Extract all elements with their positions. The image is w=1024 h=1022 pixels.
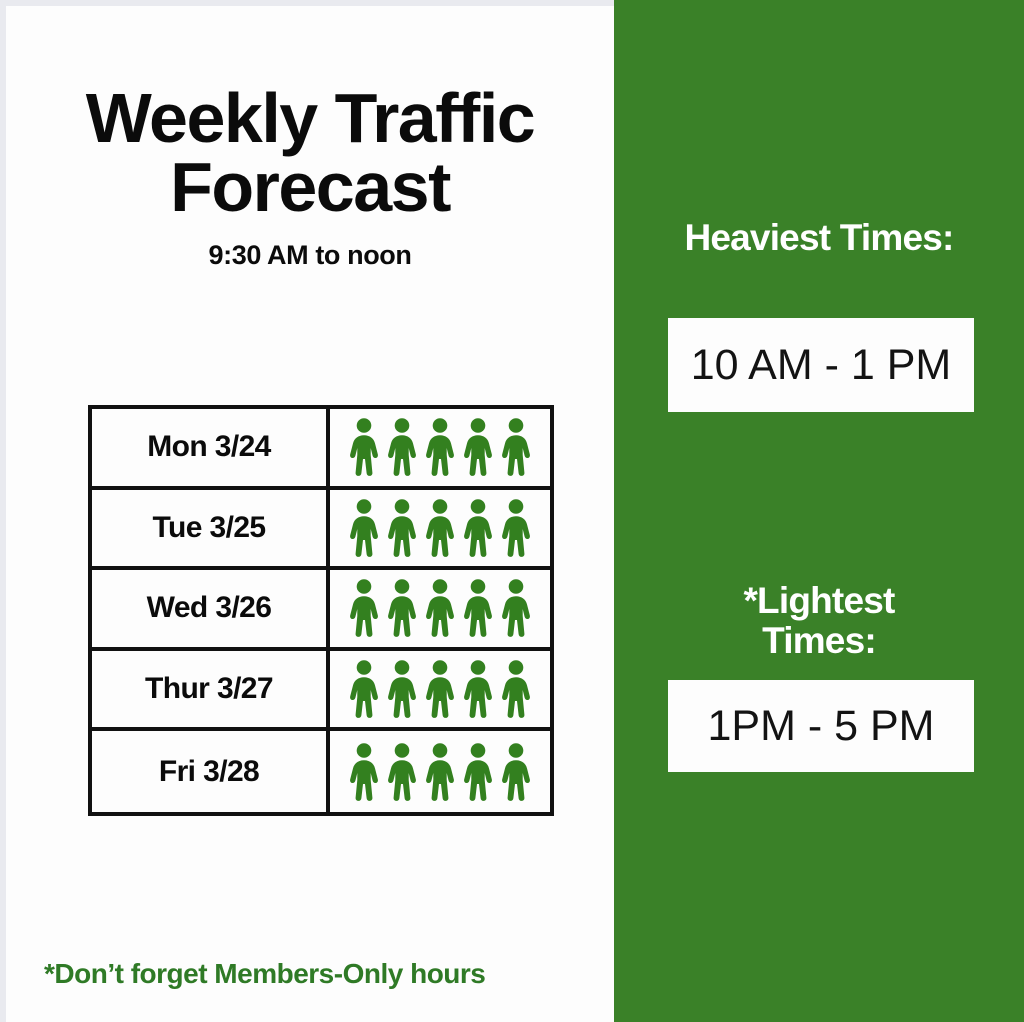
person-icon [423, 578, 457, 638]
forecast-traffic-icons [330, 570, 550, 647]
forecast-traffic-icons [330, 490, 550, 567]
heaviest-times-value: 10 AM - 1 PM [668, 318, 974, 412]
person-icon [385, 417, 419, 477]
table-row: Thur 3/27 [92, 651, 550, 732]
person-icon [347, 498, 381, 558]
page-title-line-1: Weekly Traffic [86, 79, 535, 157]
person-icon [461, 498, 495, 558]
forecast-day-label: Fri 3/28 [92, 731, 330, 812]
forecast-traffic-icons [330, 651, 550, 728]
table-row: Fri 3/28 [92, 731, 550, 812]
lightest-times-label: *Lightest Times: [614, 581, 1024, 661]
person-icon [347, 742, 381, 802]
forecast-day-label: Mon 3/24 [92, 409, 330, 486]
page-subtitle: 9:30 AM to noon [6, 240, 614, 271]
person-icon [499, 742, 533, 802]
lightest-times-value: 1PM - 5 PM [668, 680, 974, 772]
table-row: Tue 3/25 [92, 490, 550, 571]
heaviest-times-label: Heaviest Times: [614, 218, 1024, 258]
person-icon [423, 417, 457, 477]
person-icon [347, 659, 381, 719]
forecast-day-label: Tue 3/25 [92, 490, 330, 567]
forecast-traffic-icons [330, 731, 550, 812]
person-icon [385, 659, 419, 719]
person-icon [461, 742, 495, 802]
person-icon [461, 417, 495, 477]
table-row: Wed 3/26 [92, 570, 550, 651]
forecast-traffic-icons [330, 409, 550, 486]
lightest-times-label-line-1: *Lightest [743, 580, 894, 621]
page-title: Weekly Traffic Forecast [6, 84, 614, 221]
page-title-line-2: Forecast [6, 153, 614, 222]
members-only-note: *Don’t forget Members-Only hours [44, 958, 604, 990]
poster-canvas: Weekly Traffic Forecast 9:30 AM to noon … [0, 0, 1024, 1022]
highlights-panel: Heaviest Times: 10 AM - 1 PM *Lightest T… [614, 0, 1024, 1022]
person-icon [499, 659, 533, 719]
person-icon [347, 578, 381, 638]
person-icon [461, 578, 495, 638]
person-icon [423, 742, 457, 802]
person-icon [385, 742, 419, 802]
person-icon [499, 498, 533, 558]
table-row: Mon 3/24 [92, 409, 550, 490]
forecast-day-label: Wed 3/26 [92, 570, 330, 647]
person-icon [499, 578, 533, 638]
forecast-day-label: Thur 3/27 [92, 651, 330, 728]
forecast-table: Mon 3/24Tue 3/25Wed 3/26Thur 3/27Fri 3/2… [88, 405, 554, 816]
person-icon [461, 659, 495, 719]
person-icon [423, 659, 457, 719]
lightest-times-label-line-2: Times: [762, 620, 876, 661]
person-icon [385, 578, 419, 638]
person-icon [385, 498, 419, 558]
left-content-panel: Weekly Traffic Forecast 9:30 AM to noon … [6, 6, 614, 1022]
person-icon [347, 417, 381, 477]
person-icon [423, 498, 457, 558]
person-icon [499, 417, 533, 477]
